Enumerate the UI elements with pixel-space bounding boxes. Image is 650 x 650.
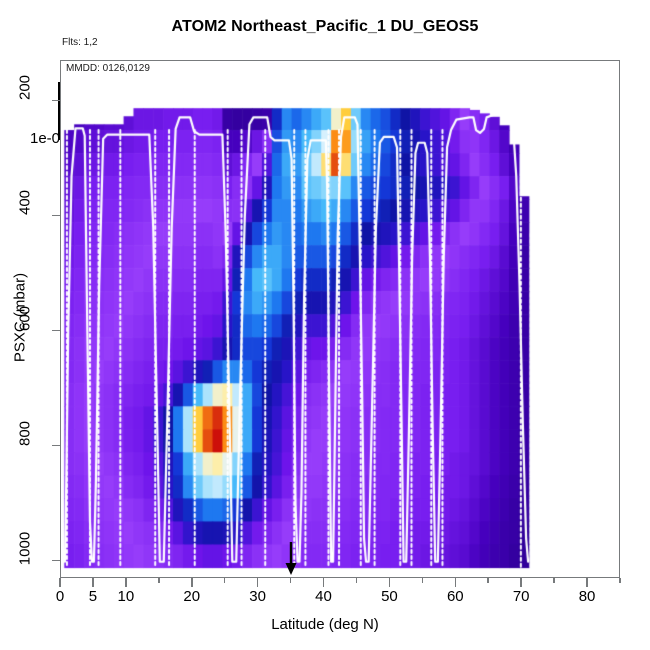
- x-minor-tick-45: [356, 578, 358, 583]
- y-tick-label-1000: 1000: [17, 523, 34, 573]
- heatmap-canvas: [61, 61, 621, 579]
- x-minor-tick-65: [487, 578, 489, 583]
- x-tick-0: [59, 578, 61, 587]
- plot-frame: MMDD: 0126,0129: [60, 60, 620, 578]
- x-tick-50: [389, 578, 391, 587]
- flights-note: Flts: 1,2: [62, 37, 98, 48]
- y-tick-200: [52, 100, 60, 102]
- x-tick-label-10: 10: [106, 588, 146, 605]
- x-minor-tick-25: [224, 578, 226, 583]
- y-tick-600: [52, 330, 60, 332]
- figure-root: ATOM2 Northeast_Pacific_1 DU_GEOS5 Flts:…: [0, 0, 650, 650]
- x-minor-tick-75: [553, 578, 555, 583]
- x-tick-label-80: 80: [567, 588, 607, 605]
- y-tick-label-400: 400: [17, 178, 34, 228]
- mmdd-note: MMDD: 0126,0129: [66, 63, 150, 74]
- x-tick-5: [92, 578, 94, 587]
- x-tick-10: [125, 578, 127, 587]
- x-minor-tick-55: [422, 578, 424, 583]
- x-tick-80: [586, 578, 588, 587]
- x-tick-20: [191, 578, 193, 587]
- latitude-marker-arrow: [284, 542, 298, 576]
- y-axis-title: PSXC (mbar): [12, 238, 29, 398]
- x-tick-label-30: 30: [238, 588, 278, 605]
- x-minor-tick-15: [158, 578, 160, 583]
- x-tick-label-50: 50: [369, 588, 409, 605]
- x-tick-label-40: 40: [304, 588, 344, 605]
- y-tick-label-200: 200: [17, 63, 34, 113]
- y-tick-400: [52, 215, 60, 217]
- y-tick-1000: [52, 560, 60, 562]
- page-title: ATOM2 Northeast_Pacific_1 DU_GEOS5: [0, 18, 650, 36]
- x-tick-60: [455, 578, 457, 587]
- x-tick-70: [520, 578, 522, 587]
- y-tick-label-800: 800: [17, 408, 34, 458]
- x-tick-label-20: 20: [172, 588, 212, 605]
- x-tick-label-70: 70: [501, 588, 541, 605]
- x-tick-label-60: 60: [435, 588, 475, 605]
- x-tick-40: [323, 578, 325, 587]
- x-axis-title: Latitude (deg N): [0, 616, 650, 633]
- x-minor-tick-35: [290, 578, 292, 583]
- x-tick-30: [257, 578, 259, 587]
- y-tick-800: [52, 445, 60, 447]
- x-minor-tick-85: [619, 578, 621, 583]
